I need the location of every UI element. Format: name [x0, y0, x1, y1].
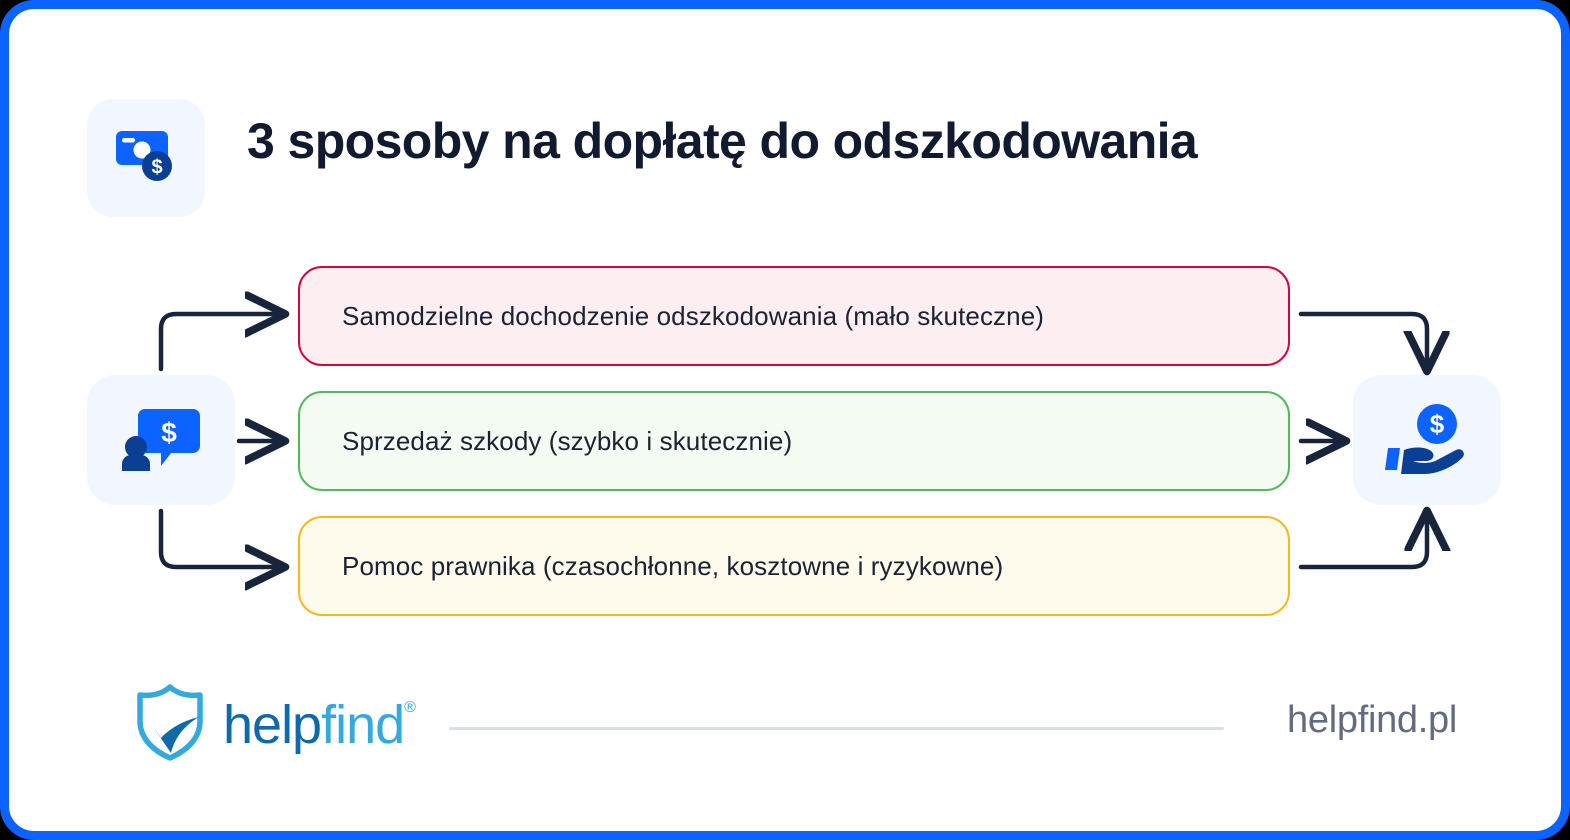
header: $ 3 sposoby na dopłatę do odszkodowania — [87, 99, 1487, 221]
logo-text-help: help — [223, 695, 321, 755]
option-lawyer-help[interactable]: Pomoc prawnika (czasochłonne, kosztowne … — [298, 516, 1290, 616]
footer: helpfind® helpfind.pl — [9, 669, 1570, 789]
source-icon-tile: $ — [87, 375, 235, 505]
svg-text:$: $ — [151, 156, 162, 178]
person-speech-bubble-dollar-icon: $ — [119, 403, 203, 478]
arrow-option-1-to-target — [1301, 314, 1427, 367]
arrow-source-to-option-3 — [161, 511, 281, 567]
svg-text:$: $ — [161, 417, 177, 448]
arrow-option-3-to-target — [1301, 515, 1427, 567]
footer-divider — [449, 727, 1224, 730]
helpfind-logo[interactable]: helpfind® — [131, 681, 404, 768]
hand-holding-coin-dollar-icon: $ — [1382, 402, 1472, 479]
logo-registered-mark: ® — [404, 700, 415, 716]
shield-checkmark-icon — [131, 681, 209, 768]
footer-domain: helpfind.pl — [1287, 699, 1457, 742]
logo-text-find: find — [321, 695, 404, 755]
arrow-source-to-option-1 — [161, 314, 281, 369]
option-label: Sprzedaż szkody (szybko i skutecznie) — [300, 426, 792, 457]
option-label: Pomoc prawnika (czasochłonne, kosztowne … — [300, 551, 1003, 582]
page-title: 3 sposoby na dopłatę do odszkodowania — [247, 113, 1197, 171]
infographic-frame: $ 3 sposoby na dopłatę do odszkodowania … — [0, 0, 1570, 840]
option-sell-claim[interactable]: Sprzedaż szkody (szybko i skutecznie) — [298, 391, 1290, 491]
option-label: Samodzielne dochodzenie odszkodowania (m… — [300, 301, 1044, 332]
option-self-claim[interactable]: Samodzielne dochodzenie odszkodowania (m… — [298, 266, 1290, 366]
header-icon-tile: $ — [87, 99, 205, 217]
target-icon-tile: $ — [1353, 375, 1501, 505]
money-card-dollar-icon: $ — [110, 125, 182, 192]
svg-text:$: $ — [1430, 409, 1445, 439]
logo-wordmark: helpfind® — [223, 698, 404, 752]
